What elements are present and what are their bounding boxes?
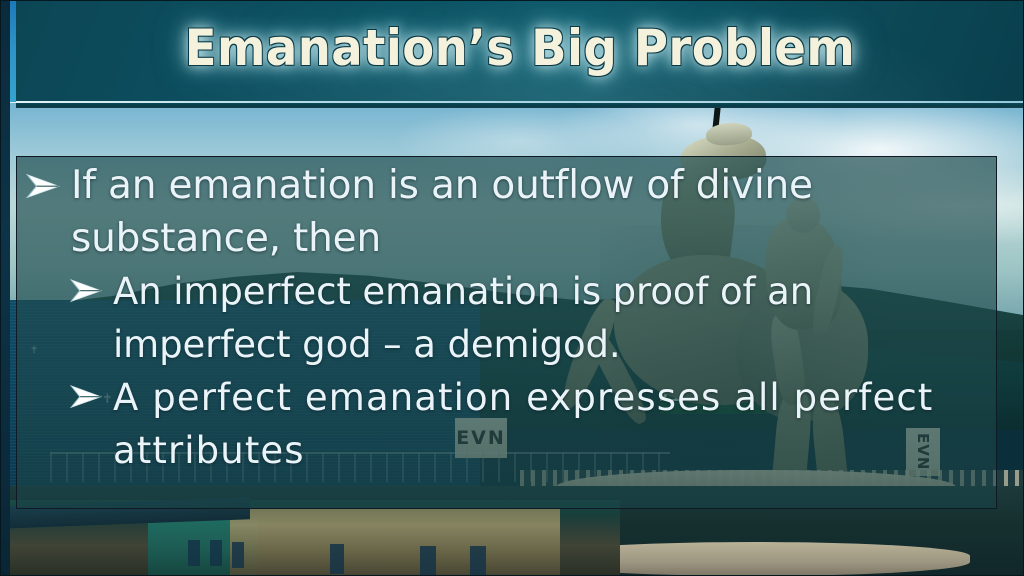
slide-title: Emanation’s Big Problem [51, 17, 988, 79]
building-window [420, 546, 436, 576]
slide-left-accent-band [10, 0, 16, 102]
bullet-text-level2: A perfect emanation expresses all perfec… [113, 371, 996, 477]
slide-left-edge-band [0, 0, 10, 576]
building-window [470, 546, 486, 576]
title-banner-shadow-rule [16, 103, 1024, 108]
building-window [210, 540, 222, 566]
arrow-bullet-icon [25, 159, 71, 199]
building-facade [230, 508, 560, 576]
building-window [330, 544, 344, 574]
arrow-bullet-icon [69, 265, 113, 303]
arrow-bullet-icon [69, 371, 113, 409]
content-text-box: If an emanation is an outflow of divine … [16, 156, 997, 509]
bullet-item-level1: If an emanation is an outflow of divine … [17, 157, 996, 265]
presentation-slide: ✝ ✝ СКОПЈЕ EVN EVN [0, 0, 1024, 576]
building-window [232, 542, 244, 568]
building-window [188, 540, 200, 566]
bullet-item-level2: An imperfect emanation is proof of an im… [17, 265, 996, 371]
bullet-text-level2: An imperfect emanation is proof of an im… [113, 265, 996, 371]
bullet-list: If an emanation is an outflow of divine … [17, 157, 996, 477]
bullet-item-level2: A perfect emanation expresses all perfec… [17, 371, 996, 477]
bullet-text-level1: If an emanation is an outflow of divine … [71, 159, 996, 265]
